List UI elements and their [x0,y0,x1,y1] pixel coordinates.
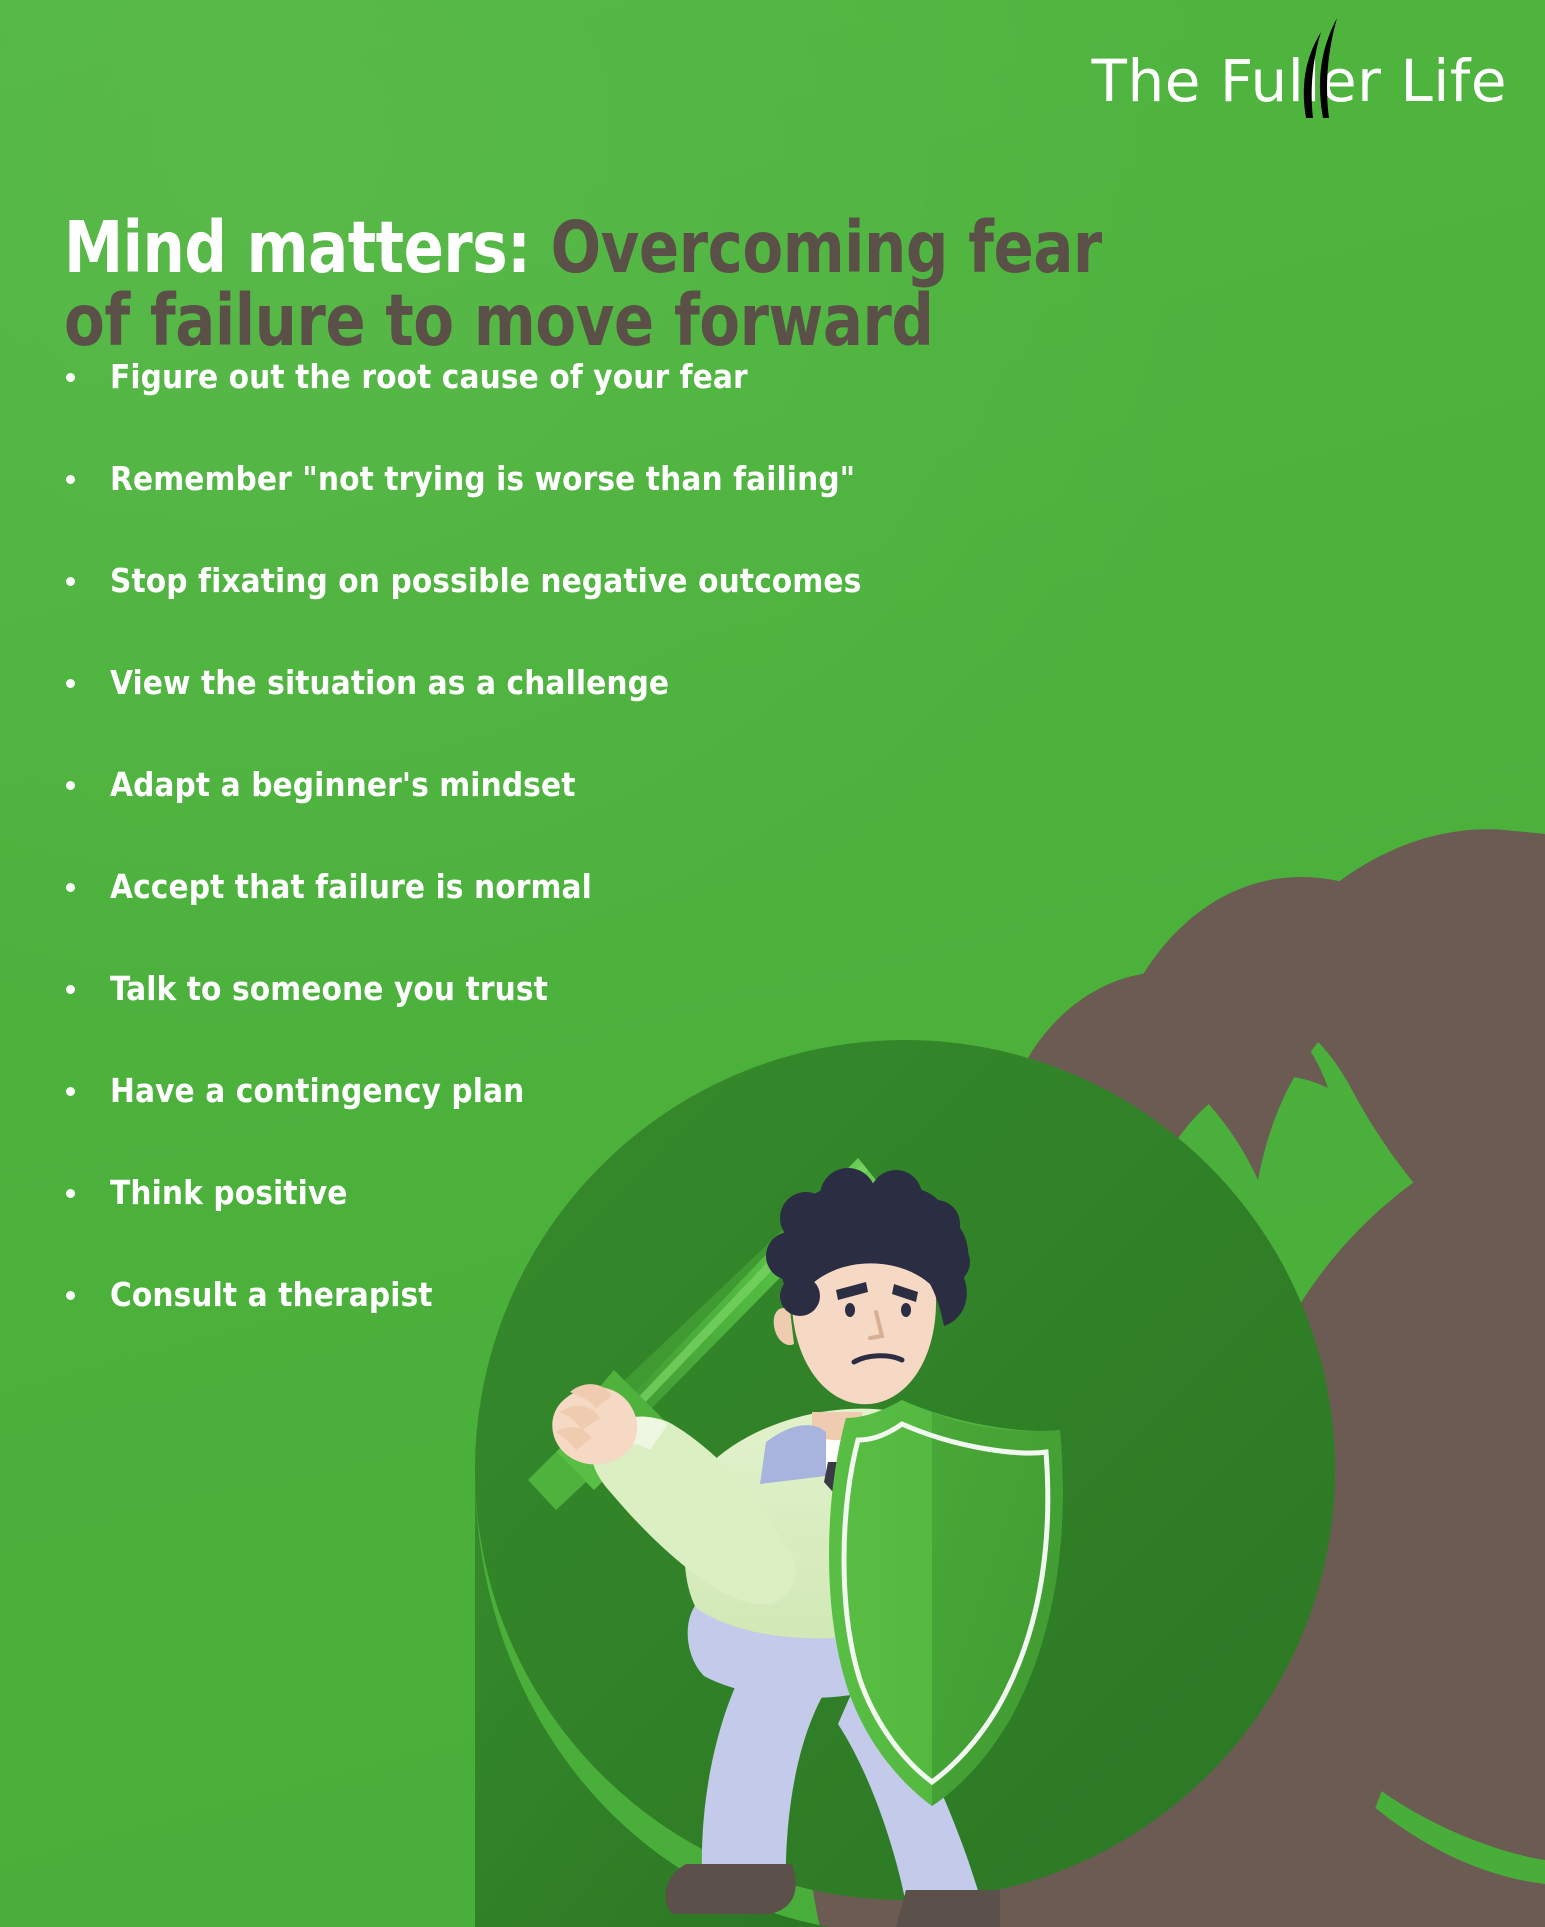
list-item: Accept that failure is normal [60,861,1240,963]
hand [552,1384,637,1464]
list-item-label: Think positive [110,1167,348,1219]
bullet-dot-icon [66,475,75,484]
bullet-dot-icon [66,781,75,790]
list-item: View the situation as a challenge [60,657,1240,759]
list-item-label: Have a contingency plan [110,1065,524,1117]
tips-list: Figure out the root cause of your fear R… [60,351,1240,1371]
list-item: Remember "not trying is worse than faili… [60,453,1240,555]
grass-blades-icon [1273,12,1343,120]
list-item-label: Adapt a beginner's mindset [110,759,576,811]
list-item: Talk to someone you trust [60,963,1240,1065]
list-item-label: Accept that failure is normal [110,861,592,913]
bullet-dot-icon [66,373,75,382]
list-item-label: View the situation as a challenge [110,657,669,709]
brand-logo[interactable]: The Fuller Life [1092,38,1507,124]
list-item-label: Consult a therapist [110,1269,433,1321]
bullet-dot-icon [66,883,75,892]
bullet-dot-icon [66,1189,75,1198]
poster-canvas: The Fuller Life Mind matters: Overcoming… [0,0,1545,1927]
list-item: Think positive [60,1167,1240,1269]
list-item: Have a contingency plan [60,1065,1240,1167]
bullet-dot-icon [66,1087,75,1096]
list-item-label: Stop fixating on possible negative outco… [110,555,861,607]
bullet-dot-icon [66,577,75,586]
list-item-label: Remember "not trying is worse than faili… [110,453,855,505]
list-item-label: Talk to someone you trust [110,963,548,1015]
list-item: Consult a therapist [60,1269,1240,1371]
list-item: Figure out the root cause of your fear [60,351,1240,453]
list-item: Adapt a beginner's mindset [60,759,1240,861]
title-highlight: Mind matters: [64,206,530,289]
list-item: Stop fixating on possible negative outco… [60,555,1240,657]
list-item-label: Figure out the root cause of your fear [110,351,748,403]
page-title: Mind matters: Overcoming fear of failure… [64,211,1143,358]
bullet-dot-icon [66,985,75,994]
bullet-dot-icon [66,1291,75,1300]
bullet-dot-icon [66,679,75,688]
shield [829,1400,1063,1806]
